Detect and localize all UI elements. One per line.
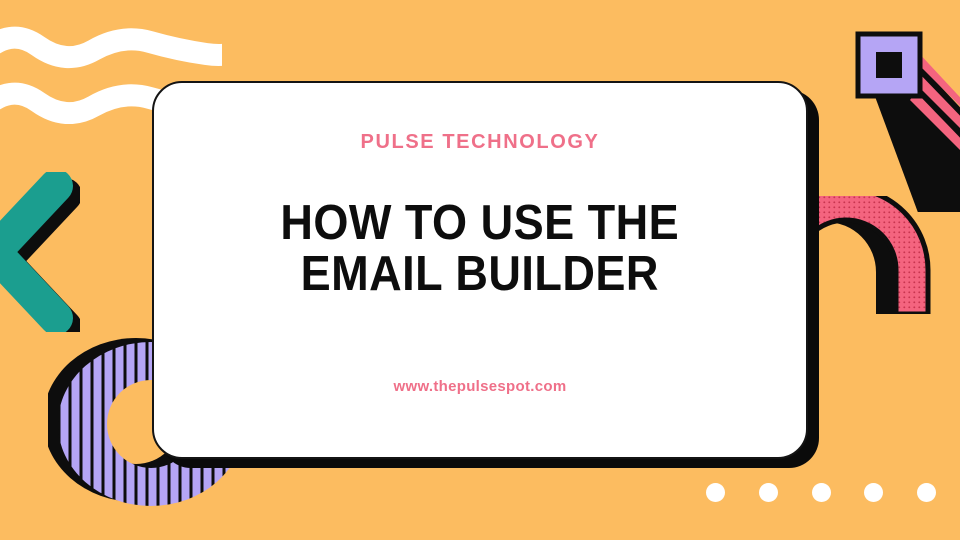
- dot-1: [706, 483, 725, 502]
- title-card: PULSE TECHNOLOGY HOW TO USE THE EMAIL BU…: [152, 81, 808, 459]
- dot-2: [759, 483, 778, 502]
- dot-4: [864, 483, 883, 502]
- page-title-line-2: EMAIL BUILDER: [281, 249, 680, 300]
- brand-eyebrow: PULSE TECHNOLOGY: [361, 131, 600, 154]
- dot-3: [812, 483, 831, 502]
- chevron-left-icon: [0, 172, 80, 332]
- website-url: www.thepulsespot.com: [154, 378, 806, 395]
- page-title-line-1: HOW TO USE THE: [281, 198, 680, 249]
- title-slide-canvas: PULSE TECHNOLOGY HOW TO USE THE EMAIL BU…: [0, 0, 960, 540]
- page-title: HOW TO USE THE EMAIL BUILDER: [281, 198, 680, 301]
- dot-row-decoration: [706, 481, 936, 503]
- square-badge-long-shadow-decoration: [840, 22, 960, 212]
- dot-5: [917, 483, 936, 502]
